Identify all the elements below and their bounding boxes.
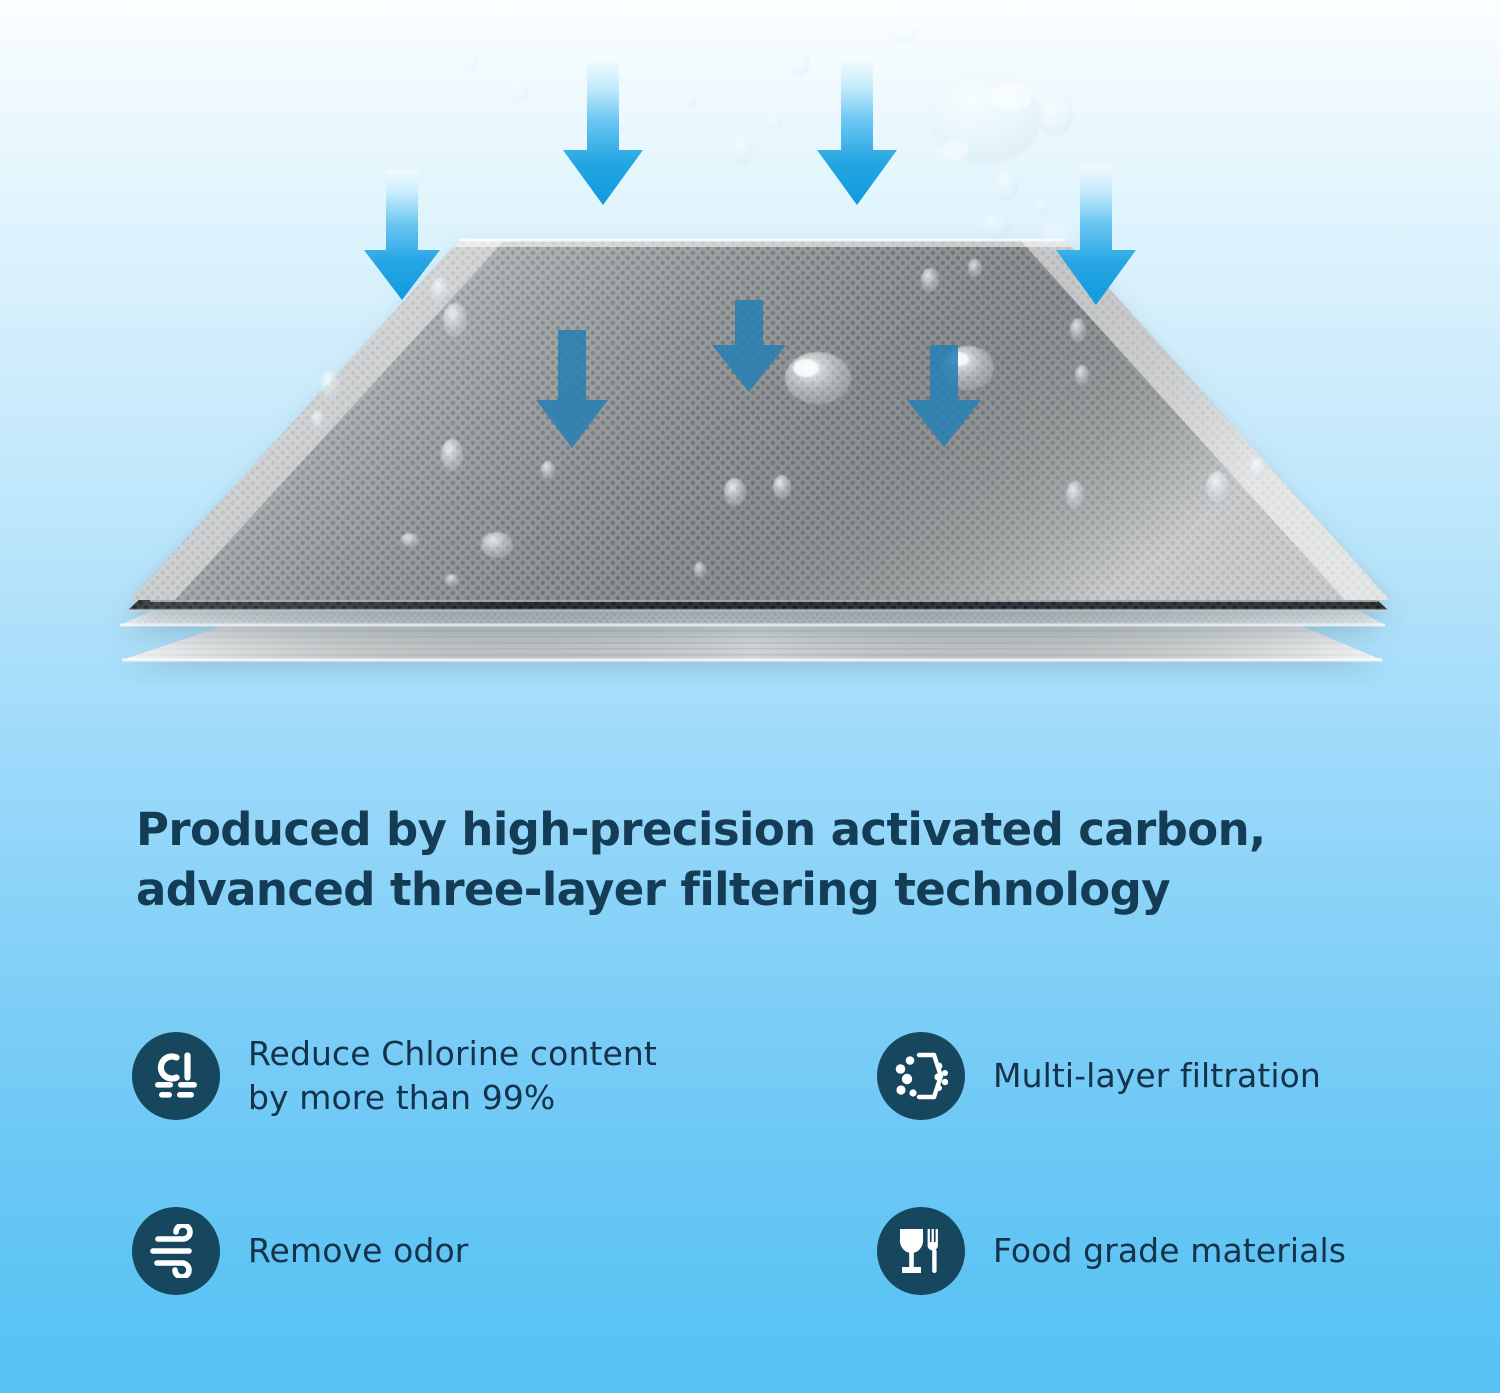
feature-label: Reduce Chlorine content by more than 99% (248, 1032, 657, 1119)
headline-line-2: advanced three-layer filtering technolog… (136, 860, 1416, 920)
feature-remove-odor: Remove odor (132, 1163, 877, 1338)
multi-layer-filtration-icon (877, 1032, 965, 1120)
chlorine-icon (132, 1032, 220, 1120)
feature-label: Food grade materials (993, 1229, 1346, 1273)
page-headline: Produced by high-precision activated car… (136, 800, 1416, 921)
infographic-page: Produced by high-precision activated car… (0, 0, 1500, 1393)
feature-multi-layer-filtration: Multi-layer filtration (877, 988, 1442, 1163)
feature-label: Multi-layer filtration (993, 1054, 1321, 1098)
feature-food-grade: Food grade materials (877, 1163, 1442, 1338)
feature-label: Remove odor (248, 1229, 468, 1273)
filter-layers-illustration (0, 0, 1500, 760)
feature-list: Reduce Chlorine content by more than 99% (132, 988, 1442, 1338)
headline-line-1: Produced by high-precision activated car… (136, 800, 1416, 860)
food-grade-icon (877, 1207, 965, 1295)
wind-odor-icon (132, 1207, 220, 1295)
feature-reduce-chlorine: Reduce Chlorine content by more than 99% (132, 988, 877, 1163)
